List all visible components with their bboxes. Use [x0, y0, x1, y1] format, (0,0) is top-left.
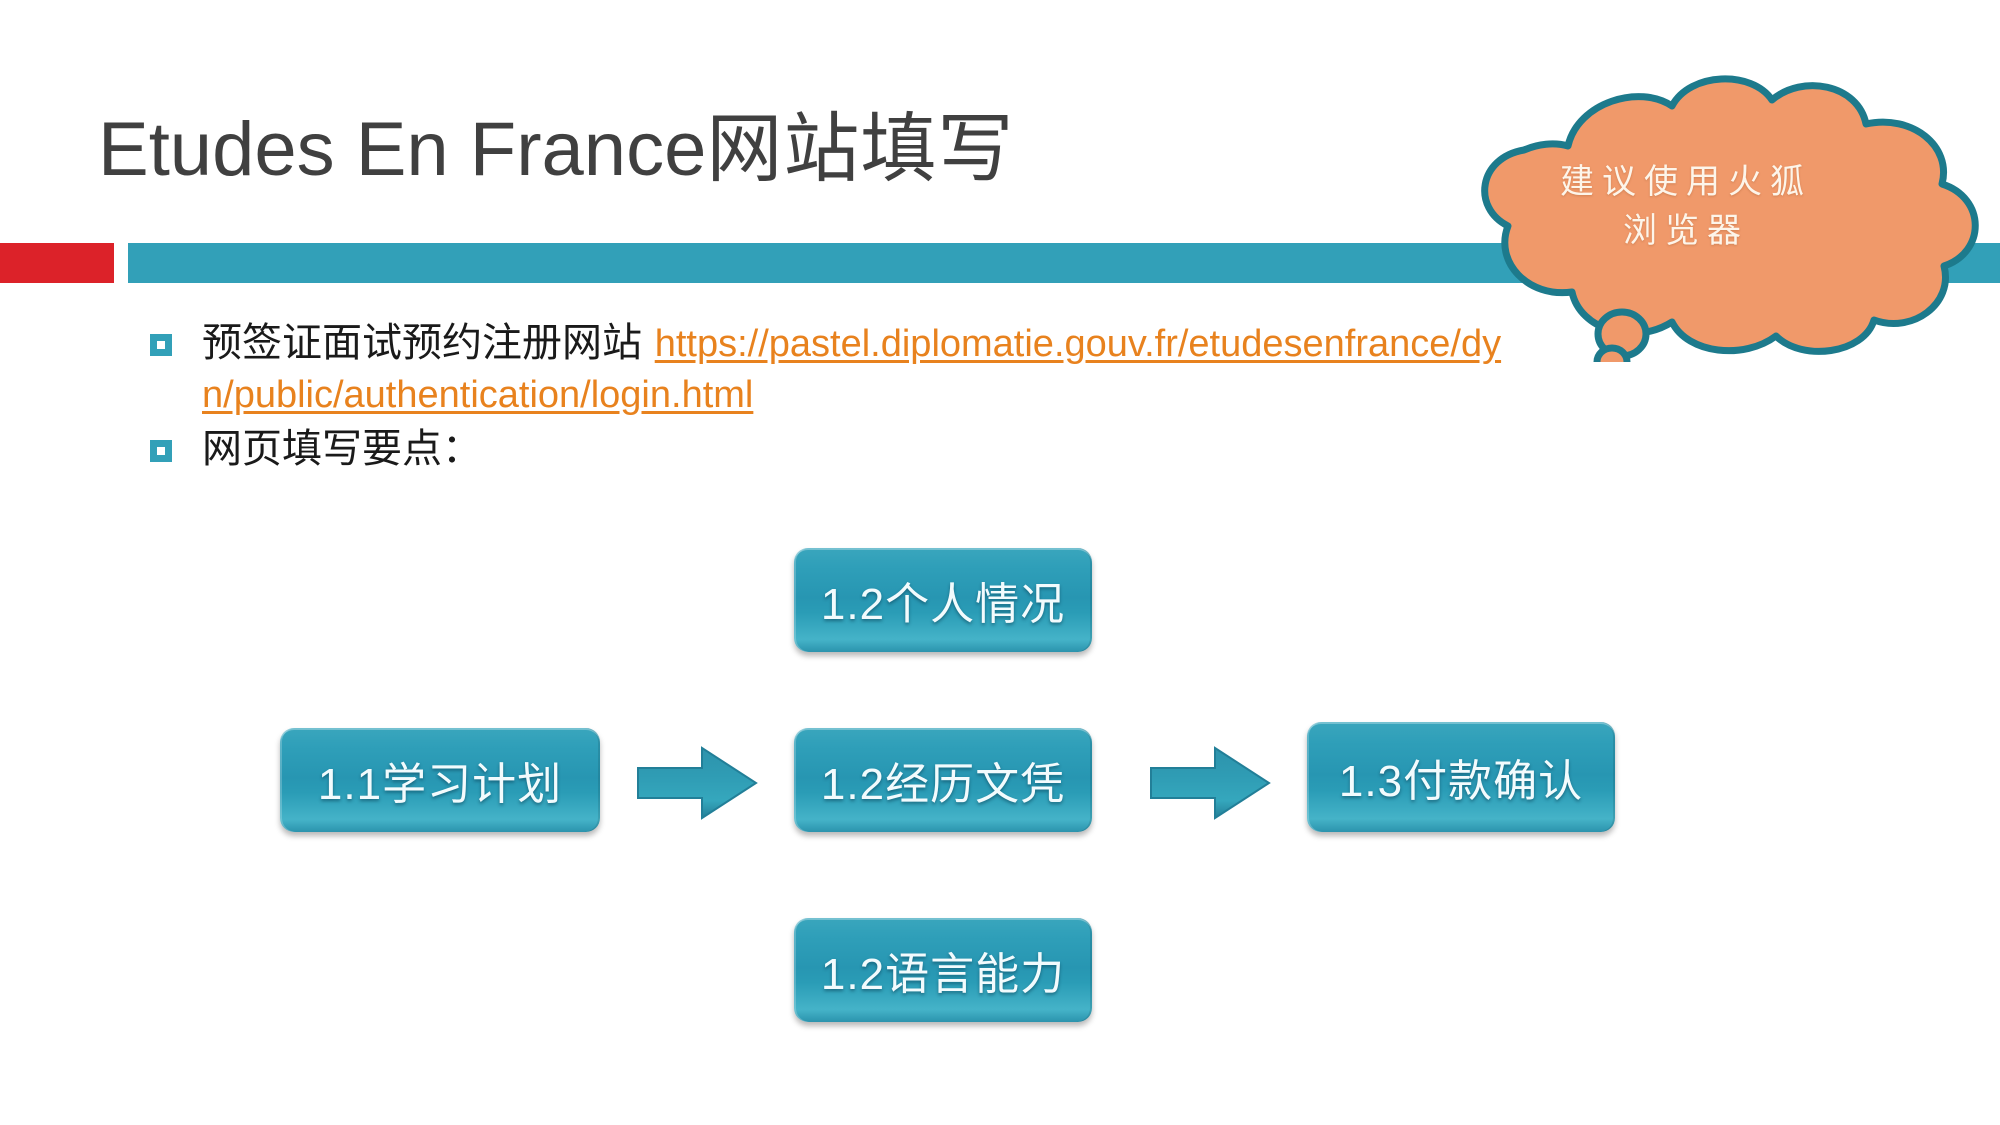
- cloud-tail-icon: [1597, 312, 1646, 362]
- diagram-node-language-ability[interactable]: 1.2语言能力: [794, 918, 1092, 1022]
- diagram-node-personal-info[interactable]: 1.2个人情况: [794, 548, 1092, 652]
- bullet-label-1: 预签证面试预约注册网站: [202, 320, 642, 366]
- diagram-node-label: 1.2经历文凭: [821, 748, 1065, 812]
- page-title: Etudes En France网站填写: [98, 112, 1014, 188]
- bullet-content: 网页填写要点：: [202, 424, 482, 475]
- process-diagram: 1.2个人情况 1.1学习计划 1.2经历文凭 1.3付款确认 1.2语言能力: [0, 500, 2000, 1100]
- bullet-content: 预签证面试预约注册网站 https://pastel.diplomatie.go…: [202, 318, 1510, 420]
- thought-cloud-callout: 建议使用火狐 浏览器: [1372, 62, 2000, 362]
- diagram-node-experience-diploma[interactable]: 1.2经历文凭: [794, 728, 1092, 832]
- diagram-node-label: 1.3付款确认: [1339, 745, 1583, 809]
- diagram-node-label: 1.1学习计划: [318, 748, 562, 812]
- diagram-node-payment-confirm[interactable]: 1.3付款确认: [1307, 722, 1615, 832]
- cloud-shape-icon: [1372, 62, 2000, 362]
- page-title-chinese: 网站填写: [706, 107, 1014, 192]
- list-item: 网页填写要点：: [150, 424, 1510, 475]
- square-bullet-icon: [150, 334, 172, 356]
- diagram-node-label: 1.2个人情况: [821, 568, 1065, 632]
- slide-canvas: Etudes En France网站填写 预签证面试预约注册网站 https:/…: [0, 0, 2000, 1125]
- arrow-right-icon: [1145, 738, 1275, 828]
- list-item: 预签证面试预约注册网站 https://pastel.diplomatie.go…: [150, 318, 1510, 420]
- page-title-latin: Etudes En France: [98, 107, 706, 192]
- square-bullet-icon: [150, 440, 172, 462]
- arrow-right-icon: [632, 738, 762, 828]
- bullet-list: 预签证面试预约注册网站 https://pastel.diplomatie.go…: [150, 318, 1510, 478]
- diagram-node-label: 1.2语言能力: [821, 938, 1065, 1002]
- diagram-node-study-plan[interactable]: 1.1学习计划: [280, 728, 600, 832]
- bullet-label-2: 网页填写要点：: [202, 426, 482, 472]
- banner-accent-red: [0, 243, 114, 283]
